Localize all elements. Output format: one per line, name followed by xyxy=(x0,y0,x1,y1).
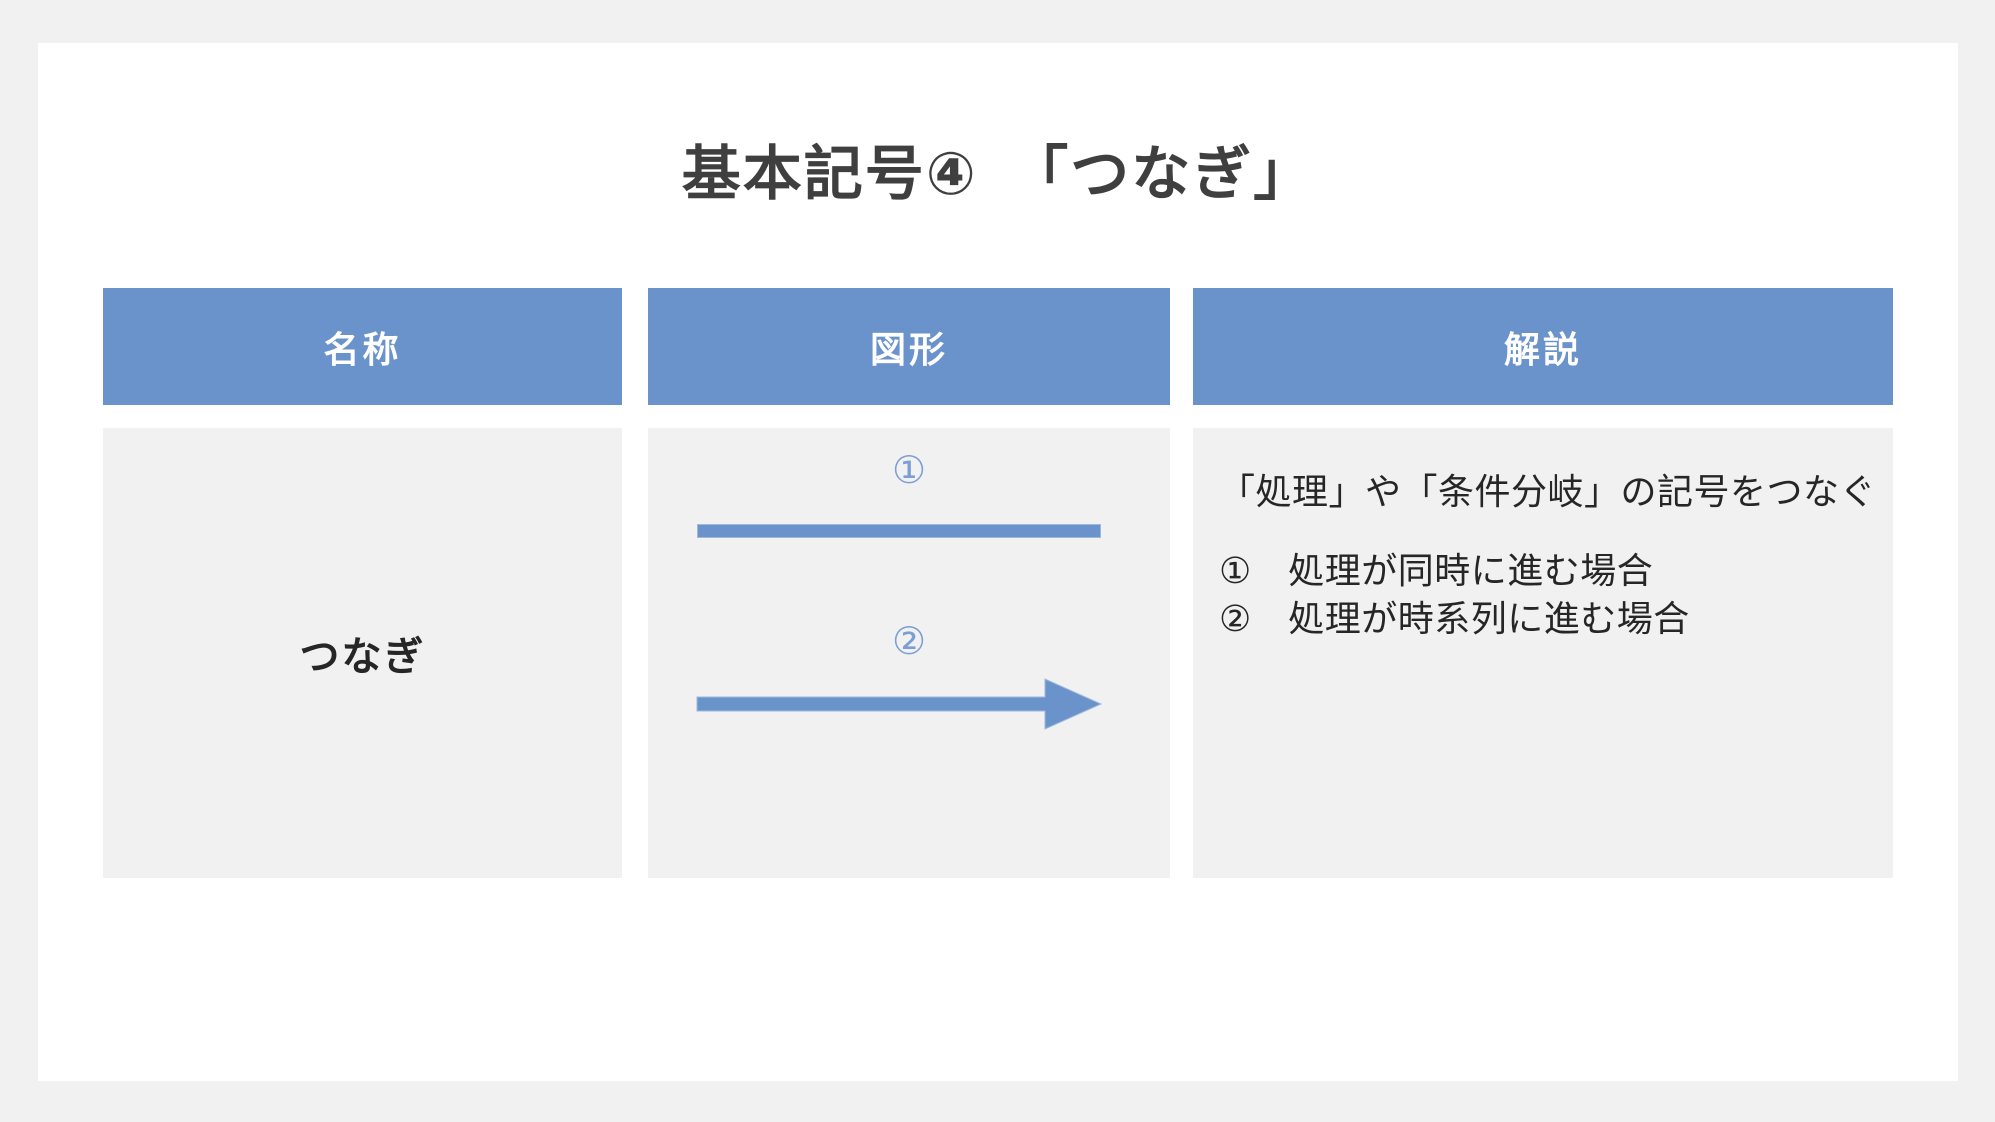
right-arrow-icon xyxy=(695,675,1105,733)
page-title: 基本記号④ 「つなぎ」 xyxy=(38,139,1958,210)
table-cell-figure: ① ② xyxy=(648,428,1170,878)
slide-canvas: 基本記号④ 「つなぎ」 名称 つなぎ 図形 ① xyxy=(38,43,1958,1081)
symbol-table: 名称 つなぎ 図形 ① ② xyxy=(103,288,1893,878)
table-header-name: 名称 xyxy=(103,288,622,405)
table-column-name: 名称 つなぎ xyxy=(103,288,622,878)
table-header-name-label: 名称 xyxy=(323,321,401,373)
figure-item-2: ② xyxy=(648,623,1170,737)
table-header-description: 解説 xyxy=(1193,288,1893,405)
figure-item-1: ① xyxy=(648,452,1170,566)
description-body: 「処理」や「条件分岐」の記号をつなぐ ① 処理が同時に進む場合 ② 処理が時系列… xyxy=(1219,466,1883,642)
connector-line-shape xyxy=(697,524,1101,538)
table-cell-name: つなぎ xyxy=(103,428,622,878)
table-header-figure: 図形 xyxy=(648,288,1170,405)
figure-marker-1: ① xyxy=(648,452,1170,496)
table-cell-description: 「処理」や「条件分岐」の記号をつなぐ ① 処理が同時に進む場合 ② 処理が時系列… xyxy=(1193,428,1893,878)
figure-marker-2: ② xyxy=(648,623,1170,667)
table-column-figure: 図形 ① ② xyxy=(648,288,1170,878)
description-paragraph: 「処理」や「条件分岐」の記号をつなぐ xyxy=(1219,466,1883,517)
figure-shape-2-wrap xyxy=(648,667,1170,737)
list-item: ① 処理が同時に進む場合 xyxy=(1219,547,1883,595)
figure-shape-1-wrap xyxy=(648,496,1170,566)
list-item: ② 処理が時系列に進む場合 xyxy=(1219,595,1883,643)
symbol-name-value: つなぎ xyxy=(103,428,622,878)
table-header-description-label: 解説 xyxy=(1504,321,1582,373)
table-column-description: 解説 「処理」や「条件分岐」の記号をつなぐ ① 処理が同時に進む場合 ② 処理が… xyxy=(1193,288,1893,878)
table-header-figure-label: 図形 xyxy=(870,321,948,373)
description-list: ① 処理が同時に進む場合 ② 処理が時系列に進む場合 xyxy=(1219,547,1883,642)
